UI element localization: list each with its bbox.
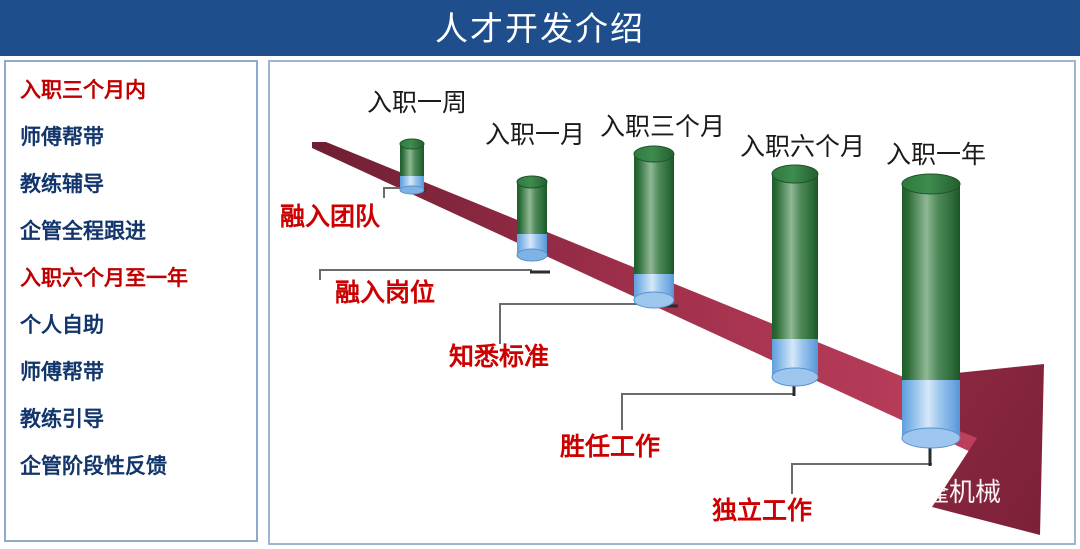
sidebar-item-2[interactable]: 教练辅导 (20, 174, 256, 195)
cylinder-2 (517, 176, 547, 261)
stage-annotation-3: 知悉标准 (449, 344, 549, 369)
stage-annotation-1: 融入团队 (280, 204, 380, 229)
cylinder-4 (772, 165, 818, 386)
leader-line-4 (622, 394, 795, 430)
sidebar-list: 入职三个月内 师傅帮带 教练辅导 企管全程跟进 入职六个月至一年 个人自助 师傅… (6, 62, 256, 540)
sidebar-item-0[interactable]: 入职三个月内 (20, 80, 256, 101)
cylinder-3 (634, 146, 674, 308)
sidebar-panel: 入职三个月内 师傅帮带 教练辅导 企管全程跟进 入职六个月至一年 个人自助 师傅… (4, 60, 258, 542)
sidebar-item-3[interactable]: 企管全程跟进 (20, 221, 256, 242)
diagram-panel: 入职一周 入职一月 入职三个月 入职六个月 入职一年 融入团队 融入岗位 知悉标… (268, 60, 1076, 545)
milestone-top-label-1: 入职一周 (367, 90, 467, 115)
sidebar-item-1[interactable]: 师傅帮带 (20, 127, 256, 148)
diagram-stage: 入职一周 入职一月 入职三个月 入职六个月 入职一年 融入团队 融入岗位 知悉标… (268, 60, 1076, 545)
milestone-top-label-4: 入职六个月 (740, 134, 865, 159)
leader-line-5 (792, 464, 932, 494)
sidebar-item-5[interactable]: 个人自助 (20, 315, 256, 336)
cylinder-1 (400, 139, 424, 194)
slide-header: 人才开发介绍 (0, 0, 1080, 56)
stage-annotation-2: 融入岗位 (335, 280, 435, 305)
sidebar-item-6[interactable]: 师傅帮带 (20, 362, 256, 383)
sidebar-item-4[interactable]: 入职六个月至一年 (20, 268, 256, 289)
milestone-top-label-2: 入职一月 (485, 122, 585, 147)
stage-annotation-4: 胜任工作 (560, 434, 660, 459)
slide-root: 人才开发介绍 入职三个月内 师傅帮带 教练辅导 企管全程跟进 入职六个月至一年 … (0, 0, 1080, 549)
stage-annotation-5: 独立工作 (712, 498, 812, 523)
page-title: 人才开发介绍 (435, 12, 645, 45)
leader-line-3 (500, 304, 654, 344)
milestone-top-label-5: 入职一年 (886, 142, 986, 167)
sidebar-item-8[interactable]: 企管阶段性反馈 (20, 456, 256, 477)
sidebar-item-7[interactable]: 教练引导 (20, 409, 256, 430)
cylinder-5 (902, 174, 960, 448)
milestone-top-label-3: 入职三个月 (600, 114, 725, 139)
